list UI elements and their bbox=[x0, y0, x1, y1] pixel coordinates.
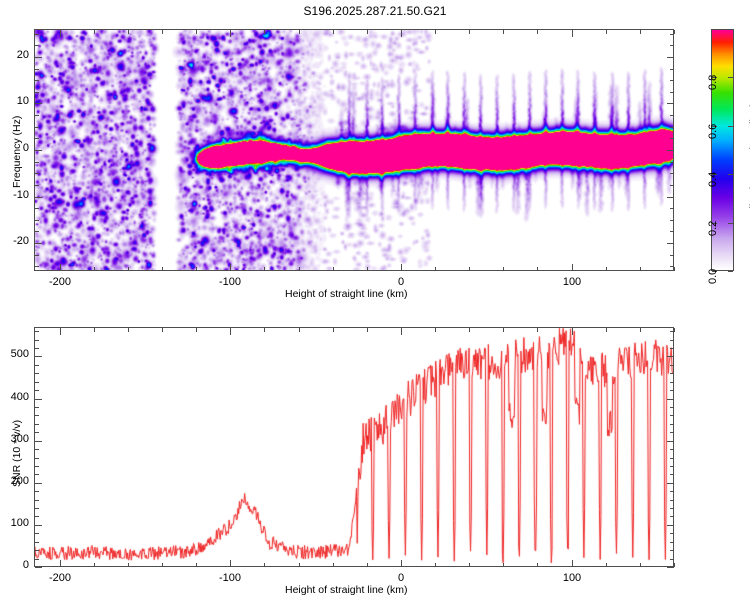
figure-root: S196.2025.287.21.50.G21 -200-1000100-20-… bbox=[0, 0, 750, 600]
axis-tick bbox=[35, 567, 42, 568]
axis-tick-label: -100 bbox=[219, 276, 241, 288]
axis-tick-label: 500 bbox=[11, 348, 29, 360]
axis-tick-label: 0 bbox=[398, 276, 404, 288]
snr-plot-area bbox=[34, 327, 674, 567]
axis-tick bbox=[674, 30, 675, 34]
axis-tick-label: 0 bbox=[398, 572, 404, 584]
axis-tick-label: 100 bbox=[11, 517, 29, 529]
axis-tick-label: -20 bbox=[13, 235, 29, 247]
axis-tick-label: 100 bbox=[563, 276, 581, 288]
figure-title: S196.2025.287.21.50.G21 bbox=[0, 4, 750, 18]
colorbar bbox=[711, 29, 734, 271]
axis-tick-label: 0 bbox=[23, 559, 29, 571]
axis-tick bbox=[674, 267, 675, 271]
snr-xaxis-label: Height of straight line (km) bbox=[285, 584, 408, 596]
colorbar-gradient bbox=[712, 30, 733, 270]
colorbar-tick bbox=[728, 271, 733, 272]
axis-tick-label: -100 bbox=[219, 572, 241, 584]
axis-tick-label: -200 bbox=[49, 276, 71, 288]
snr-canvas bbox=[35, 328, 673, 566]
spectrogram-yaxis-label: Frequency (Hz) bbox=[11, 116, 23, 188]
spectrogram-canvas bbox=[35, 30, 673, 270]
snr-yaxis-label: SNR (10 * v/v) bbox=[11, 420, 23, 487]
axis-tick-label: 0 bbox=[23, 142, 29, 154]
axis-tick bbox=[667, 567, 674, 568]
axis-tick bbox=[674, 328, 675, 332]
axis-tick-label: 400 bbox=[11, 391, 29, 403]
axis-tick-label: 100 bbox=[563, 572, 581, 584]
spectrogram-plot-area bbox=[34, 29, 674, 271]
spectrogram-xaxis-label: Height of straight line (km) bbox=[285, 288, 408, 300]
colorbar-tick bbox=[712, 271, 717, 272]
axis-tick bbox=[674, 563, 675, 567]
axis-tick-label: 20 bbox=[17, 49, 29, 61]
axis-tick-label: 10 bbox=[17, 95, 29, 107]
axis-tick-label: -10 bbox=[13, 189, 29, 201]
axis-tick-label: -200 bbox=[49, 572, 71, 584]
